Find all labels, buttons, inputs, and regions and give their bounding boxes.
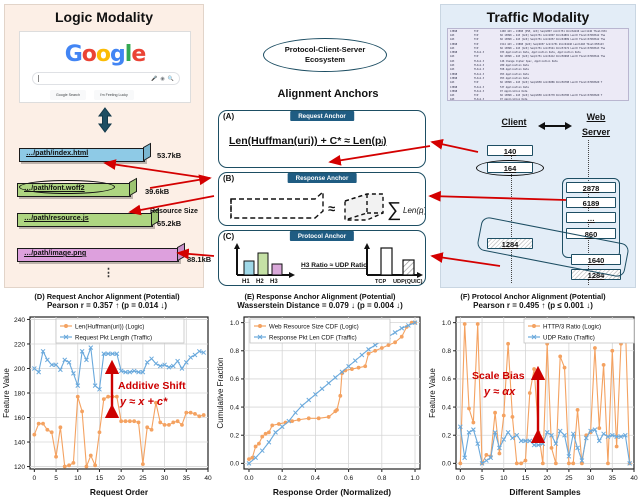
svg-text:TCP: TCP: [375, 279, 386, 285]
svg-text:y ≈ αx: y ≈ αx: [483, 386, 516, 398]
text-caret: [38, 75, 39, 82]
svg-text:HTTP/3 Ratio (Logic): HTTP/3 Ratio (Logic): [543, 323, 601, 330]
protocol-anchor-tag: Protocol Anchor: [290, 231, 354, 241]
svg-text:Different Samples: Different Samples: [509, 487, 581, 497]
svg-text:y ≈ x + c*: y ≈ x + c*: [119, 396, 168, 408]
svg-text:1.0: 1.0: [410, 475, 419, 482]
logo-letter-g1: G: [65, 42, 82, 67]
svg-text:0.0: 0.0: [442, 461, 451, 468]
microphone-icon[interactable]: 🎤: [151, 76, 157, 82]
svg-text:0.6: 0.6: [344, 475, 353, 482]
request-anchor-formula: Len(Huffman(uri)) + C* ≈ Len(pᵢ): [229, 135, 386, 147]
svg-text:H3: H3: [270, 279, 278, 285]
svg-text:0.2: 0.2: [230, 433, 239, 440]
protocol-anchor-barcharts: H1 H2 H3 H3 Ratio ≈ UDP Ratio TCP UDP(QU…: [223, 243, 425, 285]
svg-text:Len(Huffman(uri)) (Logic): Len(Huffman(uri)) (Logic): [75, 323, 144, 330]
highlight-oval-164: [476, 160, 544, 176]
chart-f-title: (F) Protocol Anchor Alignment (Potential…: [426, 292, 640, 301]
svg-text:35: 35: [183, 475, 191, 482]
svg-text:160: 160: [14, 415, 25, 422]
svg-text:1.0: 1.0: [442, 320, 451, 327]
svg-text:0.6: 0.6: [442, 376, 451, 383]
chart-e-title: (E) Response Anchor Alignment (Potential…: [214, 292, 426, 301]
svg-text:5: 5: [54, 475, 58, 482]
svg-text:Len(p: Len(p: [403, 206, 424, 215]
chart-f: (F) Protocol Anchor Alignment (Potential…: [426, 292, 640, 502]
ecosystem-ellipse: Protocol-Client-Server Ecosystem: [263, 38, 387, 72]
figure-root: Logic Modality Google 🎤 ◉ 🔍 Google Searc…: [0, 0, 640, 504]
svg-text:0.8: 0.8: [230, 348, 239, 355]
chart-f-subtitle: Pearson r = 0.495 ↑ (p ≤ 0.001 ↓): [426, 301, 640, 311]
chart-d-plot: 0510152025303540120140160180200220240Req…: [0, 311, 214, 499]
server-packet-2878: 2878: [566, 182, 616, 193]
svg-text:UDP(QUIC): UDP(QUIC): [393, 279, 423, 285]
svg-text:35: 35: [609, 475, 617, 482]
alignment-anchors-title: Alignment Anchors: [243, 88, 413, 100]
resource-size-2: 65.2kB: [157, 219, 181, 228]
svg-text:0.4: 0.4: [311, 475, 320, 482]
svg-text:120: 120: [14, 464, 25, 471]
resource-label-2: …/path/resource.js: [24, 213, 89, 222]
response-anchor-box: (B) Response Anchor ≈ ∑ Len(p i ): [218, 172, 426, 226]
chart-e: (E) Response Anchor Alignment (Potential…: [214, 292, 426, 502]
svg-text:0.0: 0.0: [244, 475, 253, 482]
svg-text:30: 30: [161, 475, 169, 482]
svg-text:0.0: 0.0: [230, 461, 239, 468]
svg-text:40: 40: [204, 475, 212, 482]
svg-text:0.8: 0.8: [377, 475, 386, 482]
response-anchor-diagram: ≈ ∑ Len(p i ): [227, 189, 425, 225]
svg-text:25: 25: [565, 475, 573, 482]
svg-text:≈: ≈: [328, 201, 335, 216]
svg-text:1.0: 1.0: [230, 320, 239, 327]
ecosystem-line1: Protocol-Client-Server: [285, 45, 366, 55]
svg-text:10: 10: [74, 475, 82, 482]
logo-letter-o2: o: [96, 42, 110, 67]
svg-text:Response Order (Normalized): Response Order (Normalized): [273, 487, 391, 497]
svg-text:0: 0: [33, 475, 37, 482]
response-anchor-tag: Response Anchor: [288, 173, 357, 183]
ecosystem-line2: Ecosystem: [305, 55, 345, 65]
highlight-oval-font: [19, 180, 115, 194]
web-server-label-line2: Server: [566, 127, 626, 137]
search-bar-icons: 🎤 ◉ 🔍: [151, 76, 174, 82]
svg-text:∑: ∑: [387, 199, 401, 221]
svg-text:0.2: 0.2: [278, 475, 287, 482]
svg-text:Response Pkt Len CDF (Traffic): Response Pkt Len CDF (Traffic): [269, 334, 357, 341]
anchor-letter-a: (A): [223, 112, 234, 121]
svg-text:180: 180: [14, 390, 25, 397]
logic-modality-panel: Logic Modality Google 🎤 ◉ 🔍 Google Searc…: [4, 4, 204, 288]
svg-text:30: 30: [587, 475, 595, 482]
svg-text:0.8: 0.8: [442, 348, 451, 355]
resource-size-0: 53.7kB: [157, 151, 181, 160]
lens-icon[interactable]: ◉: [160, 76, 164, 82]
resource-slab-3: …/path/image.png: [17, 248, 183, 262]
chart-d-title: (D) Request Anchor Alignment (Potential): [0, 292, 214, 301]
protocol-anchor-box: (C) Protocol Anchor H1 H2 H3 H3 Ratio ≈ …: [218, 230, 426, 286]
svg-text:Additive Shift: Additive Shift: [118, 380, 186, 392]
request-anchor-box: (A) Request Anchor Len(Huffman(uri)) + C…: [218, 110, 426, 168]
resource-label-0: …/path/index.html: [26, 148, 88, 157]
svg-text:0.4: 0.4: [442, 404, 451, 411]
web-server-label-line1: Web: [570, 112, 622, 122]
anchor-letter-c: (C): [223, 232, 234, 241]
svg-text:0.2: 0.2: [442, 433, 451, 440]
client-label: Client: [489, 117, 539, 127]
svg-text:Request Order: Request Order: [90, 487, 149, 497]
chart-e-plot: 0.00.20.40.60.81.00.00.20.40.60.81.0Resp…: [214, 311, 426, 499]
browser-mock: Google 🎤 ◉ 🔍 Google Search I'm Feeling L…: [19, 31, 191, 103]
svg-text:20: 20: [117, 475, 125, 482]
svg-text:Feature Value: Feature Value: [428, 368, 437, 418]
svg-text:Cumulative Fraction: Cumulative Fraction: [216, 357, 225, 428]
svg-text:0.0: 0.0: [456, 475, 465, 482]
logo-letter-g2: g: [110, 42, 125, 67]
chart-e-subtitle: Wasserstein Distance = 0.079 ↓ (p = 0.00…: [214, 301, 426, 311]
svg-text:): ): [424, 206, 425, 215]
logic-panel-title: Logic Modality: [5, 9, 203, 25]
vertical-ellipsis-icon: ⋮: [103, 271, 114, 275]
server-packet-ellipsis: …: [566, 212, 616, 223]
svg-text:220: 220: [14, 341, 25, 348]
svg-text:Request Pkt Length (Traffic): Request Pkt Length (Traffic): [75, 334, 152, 341]
svg-text:H3 Ratio ≈ UDP Ratio: H3 Ratio ≈ UDP Ratio: [301, 262, 367, 269]
packet-capture-list[interactable]: 13898TCP1200 443 → 13898 [PSH, ACK] Seq=…: [447, 28, 629, 101]
svg-text:40: 40: [630, 475, 638, 482]
google-search-button[interactable]: Google Search: [50, 90, 86, 100]
svg-text:0.6: 0.6: [230, 376, 239, 383]
request-anchor-tag: Request Anchor: [290, 111, 354, 121]
svg-text:Scale Bias: Scale Bias: [472, 370, 525, 382]
svg-text:15: 15: [96, 475, 104, 482]
svg-text:Feature Value: Feature Value: [2, 368, 11, 418]
chart-d-subtitle: Pearson r = 0.357 ↑ (p = 0.014 ↓): [0, 301, 214, 311]
resource-slab-0: …/path/index.html: [19, 148, 149, 162]
anchor-letter-b: (B): [223, 174, 234, 183]
svg-text:10: 10: [500, 475, 508, 482]
chart-f-plot: 0.05101520253035400.00.20.40.60.81.0Diff…: [426, 311, 640, 499]
bidirectional-vertical-arrow: [97, 107, 113, 133]
google-logo: Google: [20, 42, 190, 67]
svg-text:20: 20: [543, 475, 551, 482]
packet-row[interactable]: 443TLSv1.397 Application Data: [448, 98, 628, 101]
logo-letter-o1: o: [82, 42, 96, 67]
browser-buttons: Google Search I'm Feeling Lucky: [50, 90, 134, 100]
svg-text:140: 140: [14, 439, 25, 446]
packet-rows: 13898TCP1200 443 → 13898 [PSH, ACK] Seq=…: [448, 29, 628, 101]
svg-text:200: 200: [14, 366, 25, 373]
svg-text:H2: H2: [256, 279, 264, 285]
resource-slab-2: …/path/resource.js: [17, 213, 157, 227]
svg-text:Web Resource Size CDF (Logic): Web Resource Size CDF (Logic): [269, 323, 359, 330]
resource-size-1: 39.6kB: [145, 187, 169, 196]
resource-label-3: …/path/image.png: [24, 248, 86, 257]
svg-text:5: 5: [480, 475, 484, 482]
svg-text:H1: H1: [242, 279, 250, 285]
svg-text:25: 25: [139, 475, 147, 482]
feeling-lucky-button[interactable]: I'm Feeling Lucky: [94, 90, 134, 100]
svg-text:15: 15: [522, 475, 530, 482]
traffic-panel-title: Traffic Modality: [441, 9, 635, 25]
chart-d: (D) Request Anchor Alignment (Potential)…: [0, 292, 214, 502]
search-input[interactable]: 🎤 ◉ 🔍: [32, 72, 180, 85]
client-packet-140: 140: [487, 145, 533, 156]
svg-text:0.4: 0.4: [230, 404, 239, 411]
search-icon[interactable]: 🔍: [168, 76, 174, 82]
svg-text:240: 240: [14, 317, 25, 324]
server-packet-6189: 6189: [566, 197, 616, 208]
resource-size-caption: Resource Size: [150, 208, 198, 215]
logo-letter-e: e: [131, 42, 145, 67]
svg-text:UDP Ratio (Traffic): UDP Ratio (Traffic): [543, 334, 595, 341]
resource-size-3: 88.1kB: [187, 255, 211, 264]
